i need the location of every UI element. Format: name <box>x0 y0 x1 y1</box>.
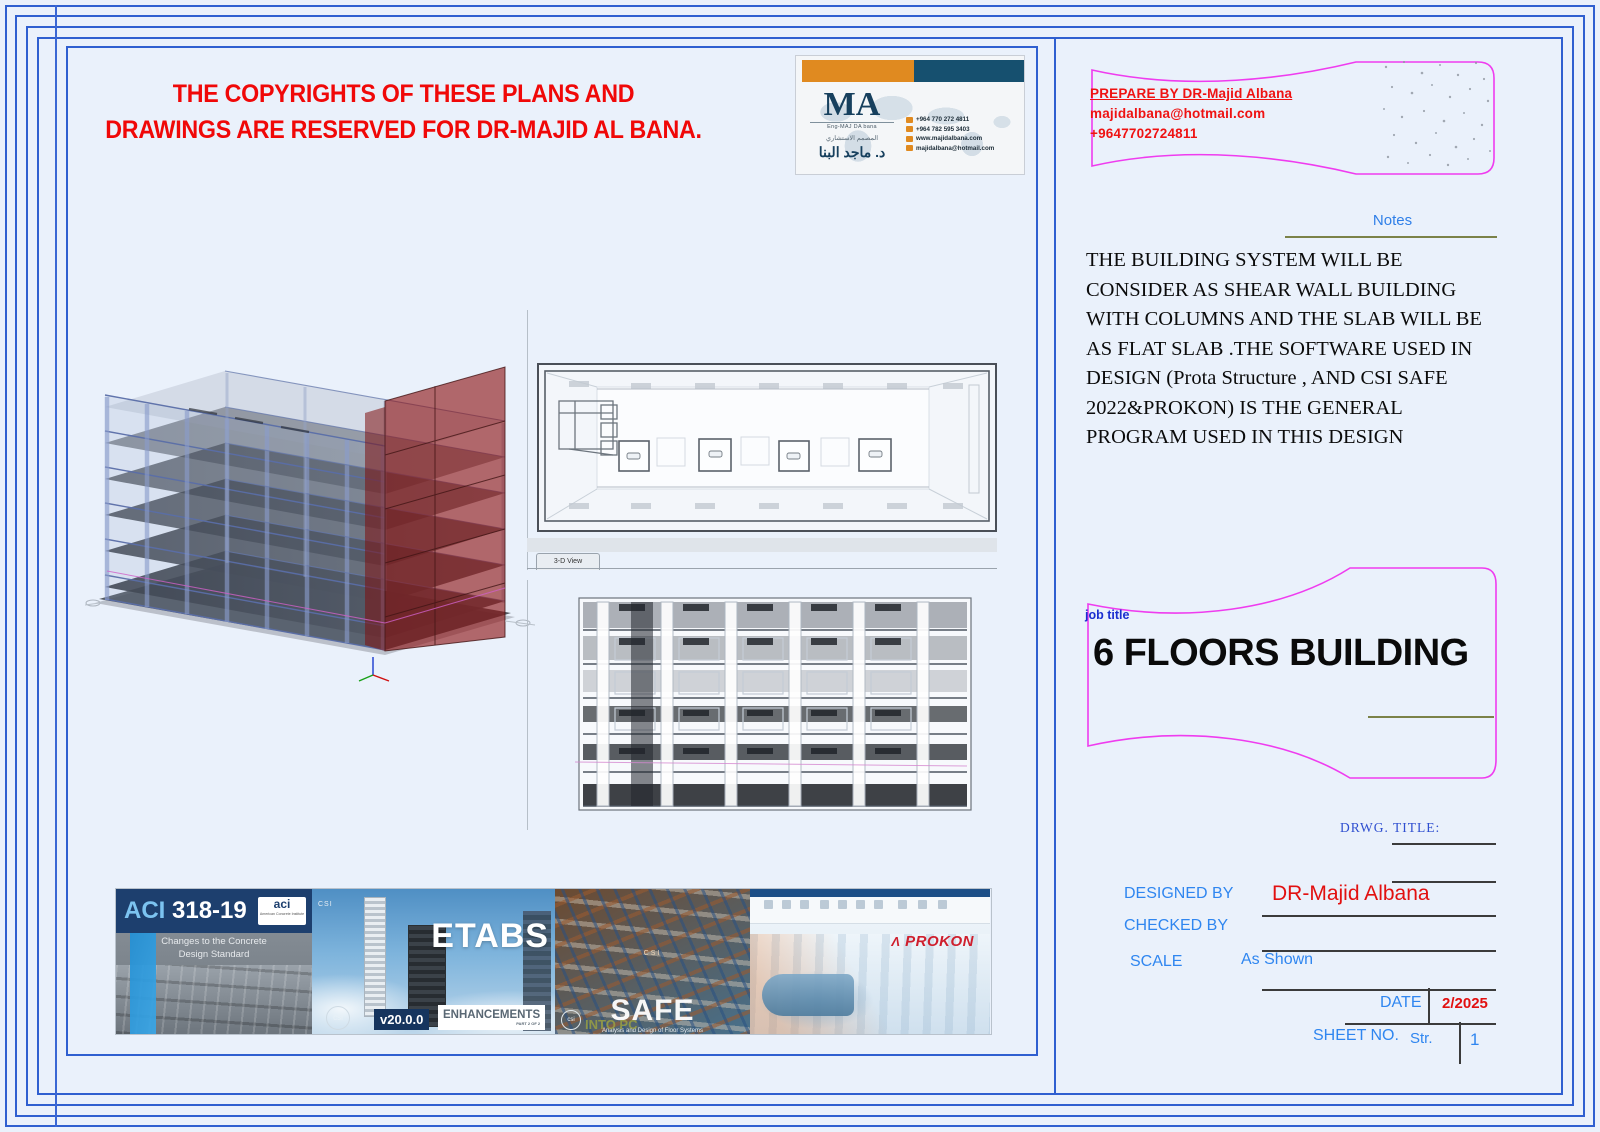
aci-badge-sub: American Concrete Institute <box>258 912 306 917</box>
date-label: DATE <box>1380 994 1421 1012</box>
card-bar-teal <box>914 60 1024 82</box>
prepared-by-line-1: PREPARE BY DR-Majid Albana <box>1090 84 1292 104</box>
banner-panel-prokon: Λ PROKON <box>750 889 990 1034</box>
csi-logo-icon: csi <box>561 1010 581 1030</box>
cloud-stipple-pattern <box>1378 57 1496 169</box>
ribbon-icon <box>782 900 791 909</box>
copyright-notice: THE COPYRIGHTS OF THESE PLANS AND DRAWIN… <box>78 76 729 148</box>
prepared-by-text: PREPARE BY DR-Majid Albana majidalbana@h… <box>1090 84 1292 144</box>
copyright-line-1: THE COPYRIGHTS OF THESE PLANS AND <box>78 76 729 112</box>
prepared-by-line-2: majidalbana@hotmail.com <box>1090 104 1292 124</box>
prokon-train-graphic <box>762 974 854 1016</box>
arabic-name: د. ماجد البنا <box>802 144 902 161</box>
ribbon-icon <box>764 900 773 909</box>
contact-text: www.majidalbana.com <box>916 135 982 142</box>
aci-subtitle-line-2: Design Standard <box>116 948 312 961</box>
date-rule <box>1345 1023 1496 1025</box>
prokon-window-titlebar <box>750 889 990 897</box>
software-logo-banner: ACI 318-19 aci American Concrete Institu… <box>115 888 992 1035</box>
prokon-brand-text: PROKON <box>905 933 974 950</box>
job-title-rule <box>1368 716 1494 718</box>
aci-title: ACI 318-19 <box>124 897 247 925</box>
mail-icon <box>906 145 913 151</box>
contact-text: +964 770 272 4811 <box>916 116 969 123</box>
aci-title-code: 318-19 <box>172 897 247 924</box>
notes-body: THE BUILDING SYSTEM WILL BE CONSIDER AS … <box>1086 246 1486 453</box>
etabs-brand: ETABS <box>431 917 549 956</box>
etabs-version: v20.0.0 <box>374 1009 429 1030</box>
monogram-subtitle: Eng-MAJ DA bana <box>804 124 900 130</box>
monogram-rule <box>810 122 894 123</box>
viewport-toolbar-band <box>527 538 997 552</box>
banner-panel-safe: CSI SAFE Analysis and Design of Floor Sy… <box>555 889 750 1034</box>
phone-icon <box>906 117 913 123</box>
scale-rule <box>1262 989 1496 991</box>
sheet-no-divider <box>1459 1022 1461 1064</box>
banner-panel-aci: ACI 318-19 aci American Concrete Institu… <box>116 889 312 1034</box>
banner-panel-etabs: CSI ETABS csi v20.0.0 ENHANCEMENTS PART … <box>312 889 555 1034</box>
contact-text: +964 782 595 3403 <box>916 126 970 133</box>
ribbon-icon <box>838 900 847 909</box>
plan-view-drawing <box>537 363 997 532</box>
contact-list: +964 770 272 4811 +964 782 595 3403 www.… <box>906 116 1022 154</box>
aci-subtitle-line-1: Changes to the Concrete <box>116 935 312 948</box>
business-card: MA Eng-MAJ DA bana المصمم الاستشاري د. م… <box>795 55 1025 175</box>
etabs-tagline-text: ENHANCEMENTS <box>443 1009 540 1021</box>
job-title-label: job title <box>1085 608 1129 622</box>
aci-subtitle: Changes to the Concrete Design Standard <box>116 935 312 961</box>
title-block-divider <box>1054 37 1056 1095</box>
notes-underline <box>1285 236 1497 238</box>
contact-row: www.majidalbana.com <box>906 135 1022 142</box>
contact-row: +964 782 595 3403 <box>906 126 1022 133</box>
designed-by-value: DR-Majid Albana <box>1272 882 1430 906</box>
ribbon-icon <box>800 900 809 909</box>
contact-row: +964 770 272 4811 <box>906 116 1022 123</box>
csi-vendor-label: CSI <box>318 901 333 908</box>
viewport-left-rule-upper <box>527 310 528 570</box>
etabs-tagline: ENHANCEMENTS PART 2 OF 2 <box>438 1005 545 1030</box>
drwg-title-rule-1 <box>1392 843 1496 845</box>
frame-elevation-view <box>575 594 975 814</box>
aci-title-prefix: ACI <box>124 897 165 924</box>
ribbon-icon <box>898 900 907 909</box>
ribbon-icon <box>856 900 865 909</box>
checked-by-label: CHECKED BY <box>1124 917 1228 935</box>
aci-badge-text: aci <box>258 897 306 912</box>
prepared-by-line-3: +9647702724811 <box>1090 124 1292 144</box>
contact-text: majidalbana@hotmail.com <box>916 145 994 152</box>
safe-watermark: INTO PC <box>585 1017 638 1032</box>
designed-by-label: DESIGNED BY <box>1124 885 1233 903</box>
viewport-tab-rule <box>527 568 997 569</box>
ribbon-icon <box>820 900 829 909</box>
sheet-no-label: SHEET NO. <box>1313 1027 1399 1045</box>
viewport-left-rule-lower <box>527 580 528 830</box>
drwg-title-label: DRWG. TITLE: <box>1340 820 1440 836</box>
arabic-role: المصمم الاستشاري <box>802 134 902 142</box>
ma-monogram-logo: MA <box>806 88 898 122</box>
phone-icon <box>906 126 913 132</box>
date-divider <box>1428 988 1430 1024</box>
designed-by-rule <box>1262 915 1496 917</box>
scale-value: As Shown <box>1241 951 1313 969</box>
date-value: 2/2025 <box>1442 995 1488 1012</box>
prokon-brand: Λ PROKON <box>891 933 974 950</box>
ribbon-icon <box>918 900 927 909</box>
ribbon-icon <box>874 900 883 909</box>
sheet-prefix: Str. <box>1410 1030 1433 1047</box>
globe-icon <box>906 136 913 142</box>
contact-row: majidalbana@hotmail.com <box>906 145 1022 152</box>
card-bar-orange <box>802 60 914 82</box>
etabs-tower-left <box>364 897 386 1017</box>
csi-logo-icon: csi <box>326 1006 350 1030</box>
sheet-binding-line <box>55 5 57 1127</box>
notes-heading: Notes <box>1290 212 1495 229</box>
ribbon-icon <box>938 900 947 909</box>
etabs-tagline-sub: PART 2 OF 2 <box>443 1021 540 1026</box>
aci-logo-badge: aci American Concrete Institute <box>258 897 306 925</box>
job-title-value: 6 FLOORS BUILDING <box>1093 632 1469 675</box>
copyright-line-2: DRAWINGS ARE RESERVED FOR DR-MAJID AL BA… <box>78 112 729 148</box>
safe-vendor-label: CSI <box>555 950 750 957</box>
scale-label: SCALE <box>1130 953 1182 971</box>
sheet-number: 1 <box>1470 1030 1479 1050</box>
building-3d-model <box>85 355 535 755</box>
